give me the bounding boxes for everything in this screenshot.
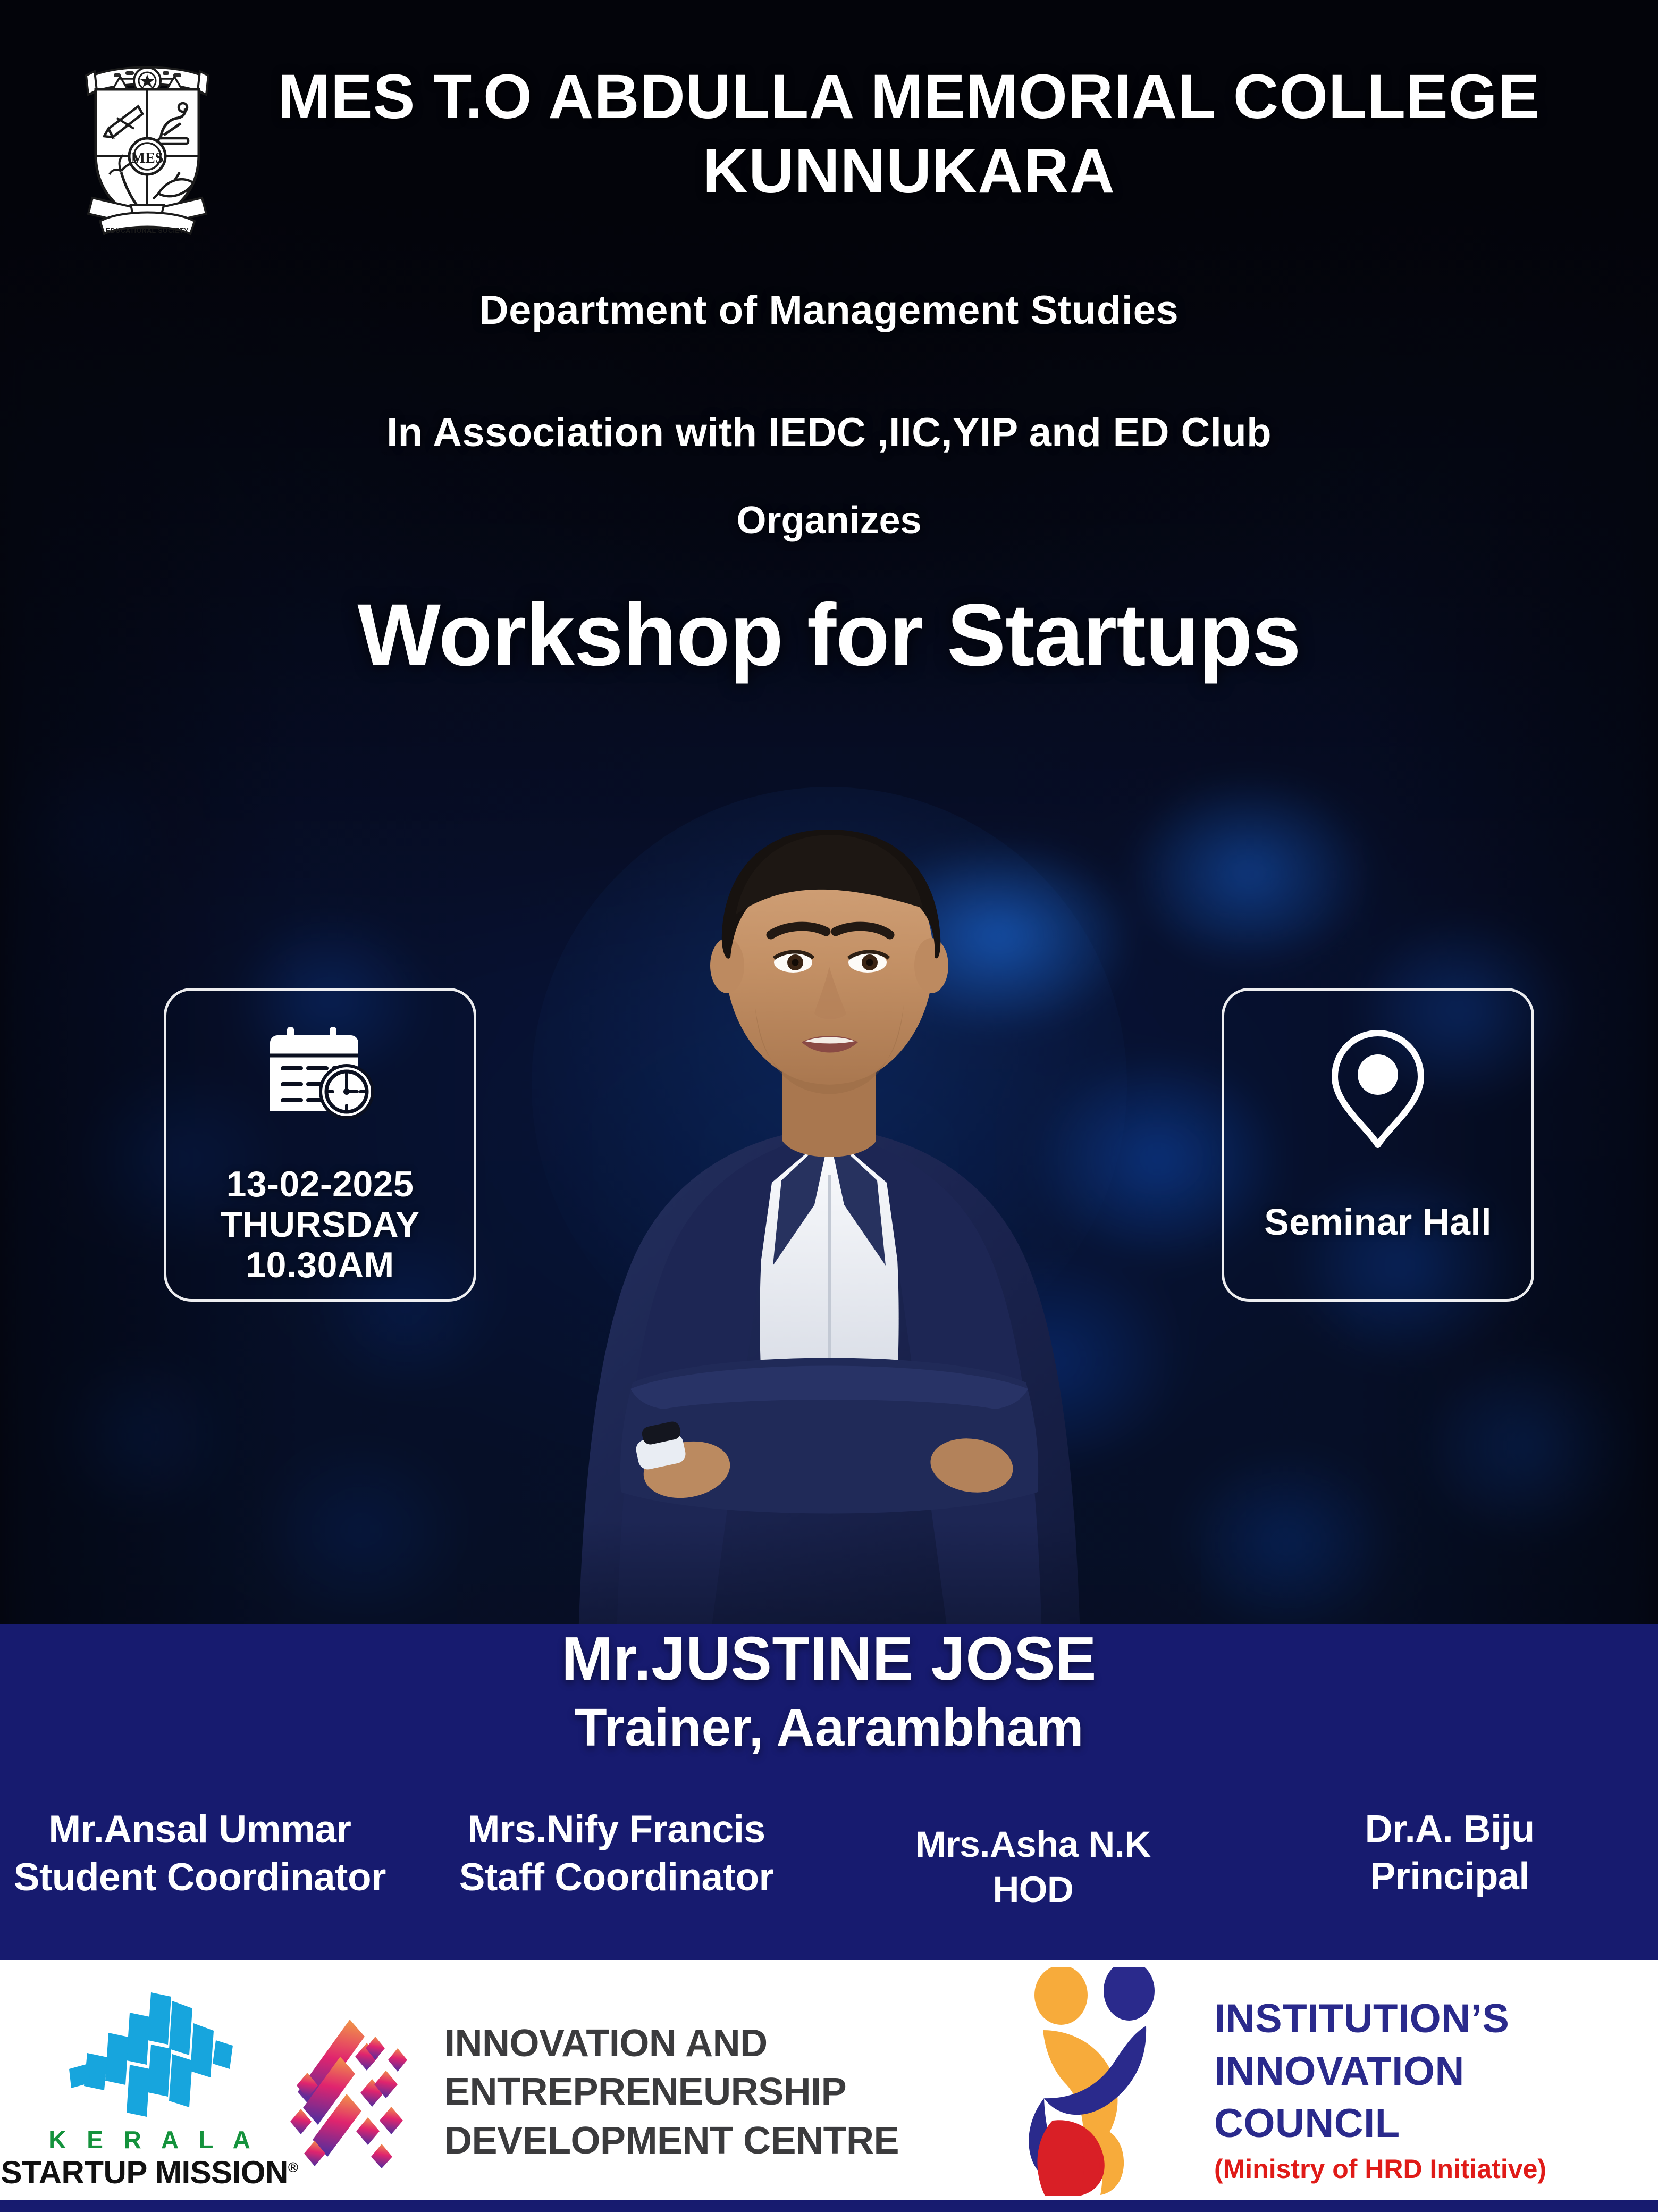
coordinator-name: Dr.A. Biju	[1247, 1808, 1653, 1851]
coordinator-role: Student Coordinator	[0, 1856, 403, 1899]
iic-line2: INNOVATION	[1214, 2046, 1546, 2098]
coordinator-name: Mrs.Nify Francis	[414, 1808, 820, 1851]
event-day-line2: THURSDAY	[220, 1204, 420, 1245]
iic-text-block: INSTITUTION’S INNOVATION COUNCIL (Minist…	[1214, 1979, 1546, 2184]
event-date-text: 13-02-2025 THURSDAY 10.30AM	[220, 1164, 420, 1285]
iedc-logo: INNOVATION AND ENTREPRENEURSHIP DEVELOPM…	[287, 2015, 899, 2169]
crest-motto-label: EDUCATIONAL SOCIETY	[106, 227, 189, 234]
poster-canvas: MES ESTD 1964 EDUCATIONAL SOCIETY MES T.…	[0, 0, 1658, 2212]
coordinator-role: Principal	[1247, 1855, 1653, 1898]
college-crest-icon: MES ESTD 1964 EDUCATIONAL SOCIETY	[81, 38, 214, 235]
iedc-line1: INNOVATION AND	[444, 2020, 899, 2068]
event-date-card: 13-02-2025 THURSDAY 10.30AM	[164, 988, 476, 1302]
association-line: In Association with IEDC ,IIC,YIP and ED…	[0, 409, 1658, 456]
event-venue-text: Seminar Hall	[1264, 1201, 1492, 1243]
iic-logo: INSTITUTION’S INNOVATION COUNCIL (Minist…	[1015, 1967, 1546, 2196]
coordinator-item: Mrs.Nify Francis Staff Coordinator	[408, 1808, 825, 1899]
college-name-heading: MES T.O ABDULLA MEMORIAL COLLEGE KUNNUKA…	[229, 60, 1589, 209]
ksm-kerala-label: K E R A L A	[41, 2125, 257, 2154]
speaker-role: Trainer, Aarambham	[0, 1697, 1658, 1758]
footer-bottom-strip	[0, 2200, 1658, 2212]
coordinator-item: Dr.A. Biju Principal	[1241, 1808, 1658, 1898]
coordinator-role: Staff Coordinator	[414, 1856, 820, 1899]
iedc-line3: DEVELOPMENT CENTRE	[444, 2117, 899, 2165]
ksm-startup-mission-text: STARTUP MISSION	[1, 2155, 288, 2190]
coordinator-name: Mrs.Asha N.K	[830, 1824, 1236, 1865]
event-venue-card: Seminar Hall	[1222, 988, 1534, 1302]
coordinator-item: Mr.Ansal Ummar Student Coordinator	[0, 1808, 408, 1899]
coordinator-name: Mr.Ansal Ummar	[0, 1808, 403, 1851]
iic-line1: INSTITUTION’S	[1214, 1993, 1546, 2046]
coordinators-row: Mr.Ansal Ummar Student Coordinator Mrs.N…	[0, 1808, 1658, 1960]
iic-figures-icon	[1015, 1967, 1196, 2196]
department-subheading: Department of Management Studies	[0, 287, 1658, 333]
coordinator-item: Mrs.Asha N.K HOD	[825, 1808, 1242, 1911]
map-pin-icon	[1224, 1028, 1531, 1150]
iedc-text-block: INNOVATION AND ENTREPRENEURSHIP DEVELOPM…	[444, 2020, 899, 2165]
iic-line3: COUNCIL	[1214, 2098, 1546, 2150]
kerala-startup-mission-logo: K E R A L A STARTUP MISSION®	[35, 1980, 264, 2199]
event-date-line1: 13-02-2025	[220, 1164, 420, 1204]
event-title: Workshop for Startups	[0, 585, 1658, 686]
speaker-name: Mr.JUSTINE JOSE	[0, 1623, 1658, 1694]
crest-monogram: MES	[131, 150, 164, 166]
iic-subtitle: (Ministry of HRD Initiative)	[1214, 2154, 1546, 2184]
iedc-line2: ENTREPRENEURSHIP	[444, 2068, 899, 2116]
iedc-diamond-icon	[287, 2015, 420, 2169]
calendar-clock-icon	[166, 1025, 474, 1126]
speaker-portrait-photo	[457, 755, 1201, 1638]
organizes-label: Organizes	[0, 499, 1658, 542]
ksm-startup-mission-label: STARTUP MISSION®	[1, 2154, 298, 2191]
ksm-checker-icon	[62, 1989, 237, 2122]
coordinator-role: HOD	[830, 1869, 1236, 1910]
event-time-line3: 10.30AM	[220, 1245, 420, 1285]
